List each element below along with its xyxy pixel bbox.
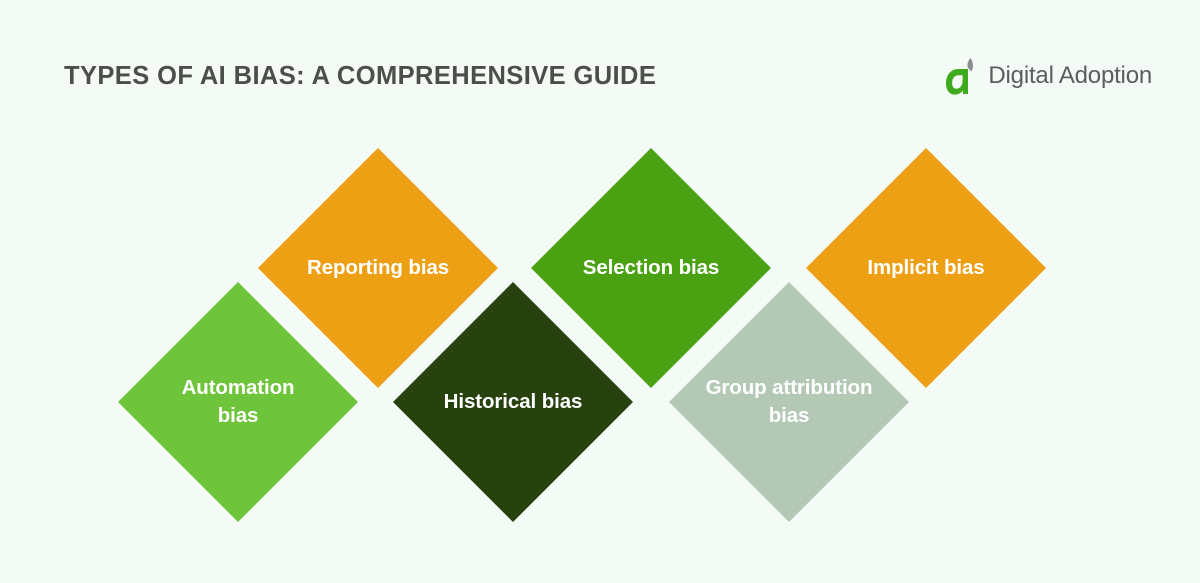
diamond-diagram: Automation biasReporting biasHistorical … — [0, 0, 1200, 583]
diamond-label-implicit-bias: Implicit bias — [821, 254, 1031, 282]
diamond-implicit-bias[interactable]: Implicit bias — [806, 148, 1046, 388]
diamond-label-selection-bias: Selection bias — [546, 254, 756, 282]
diamond-label-historical-bias: Historical bias — [408, 388, 618, 416]
diamond-label-reporting-bias: Reporting bias — [273, 254, 483, 282]
